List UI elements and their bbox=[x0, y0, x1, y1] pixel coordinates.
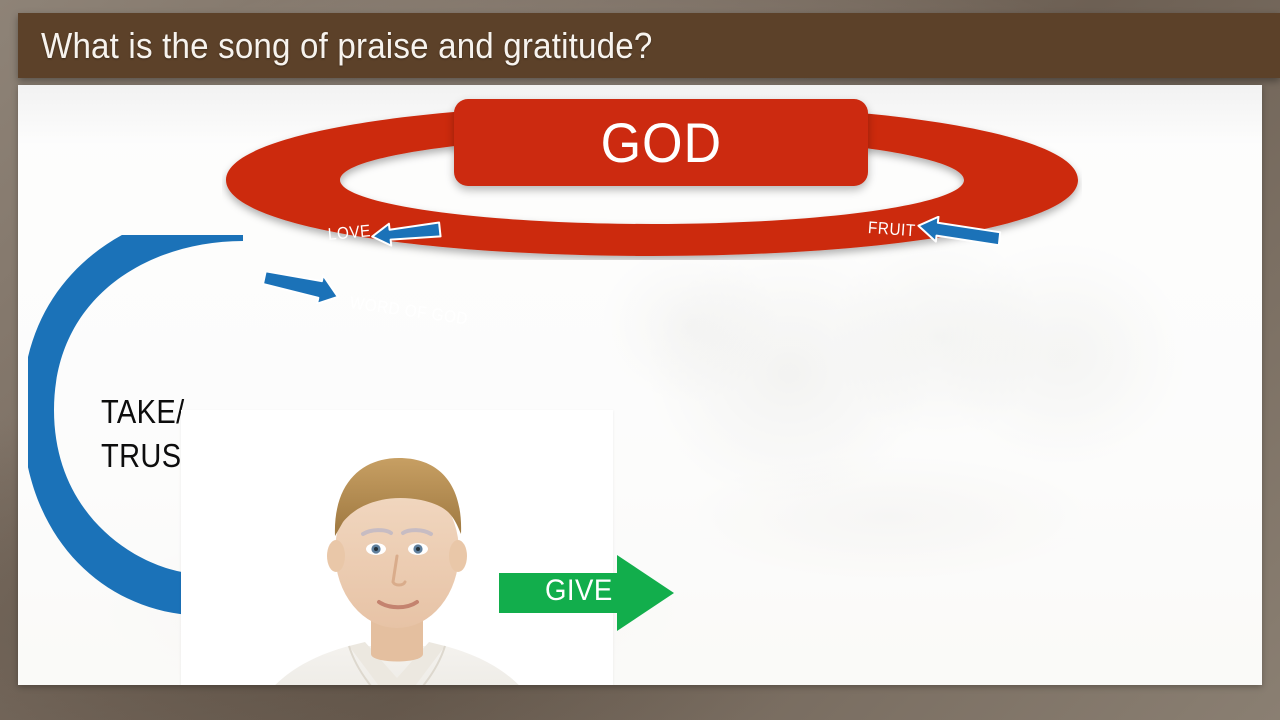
god-label: GOD bbox=[600, 110, 721, 175]
give-arrow: GIVE bbox=[499, 555, 674, 631]
page-title: What is the song of praise and gratitude… bbox=[18, 25, 652, 67]
god-center-box: GOD bbox=[454, 99, 868, 186]
person-photo bbox=[181, 410, 613, 685]
slide-frame: What is the song of praise and gratitude… bbox=[0, 0, 1280, 720]
ring-label-word-of-god: WORD OF GOD bbox=[349, 293, 470, 329]
ring-label-fruit: FRUIT bbox=[867, 218, 916, 241]
fruit-arrow-icon bbox=[916, 216, 1002, 248]
slide-title-bar: What is the song of praise and gratitude… bbox=[18, 13, 1280, 78]
slide-canvas: GOD LOVE bbox=[18, 85, 1262, 685]
give-label: GIVE bbox=[545, 574, 613, 608]
love-arrow-icon bbox=[370, 218, 442, 248]
ring-label-love: LOVE bbox=[327, 221, 372, 245]
